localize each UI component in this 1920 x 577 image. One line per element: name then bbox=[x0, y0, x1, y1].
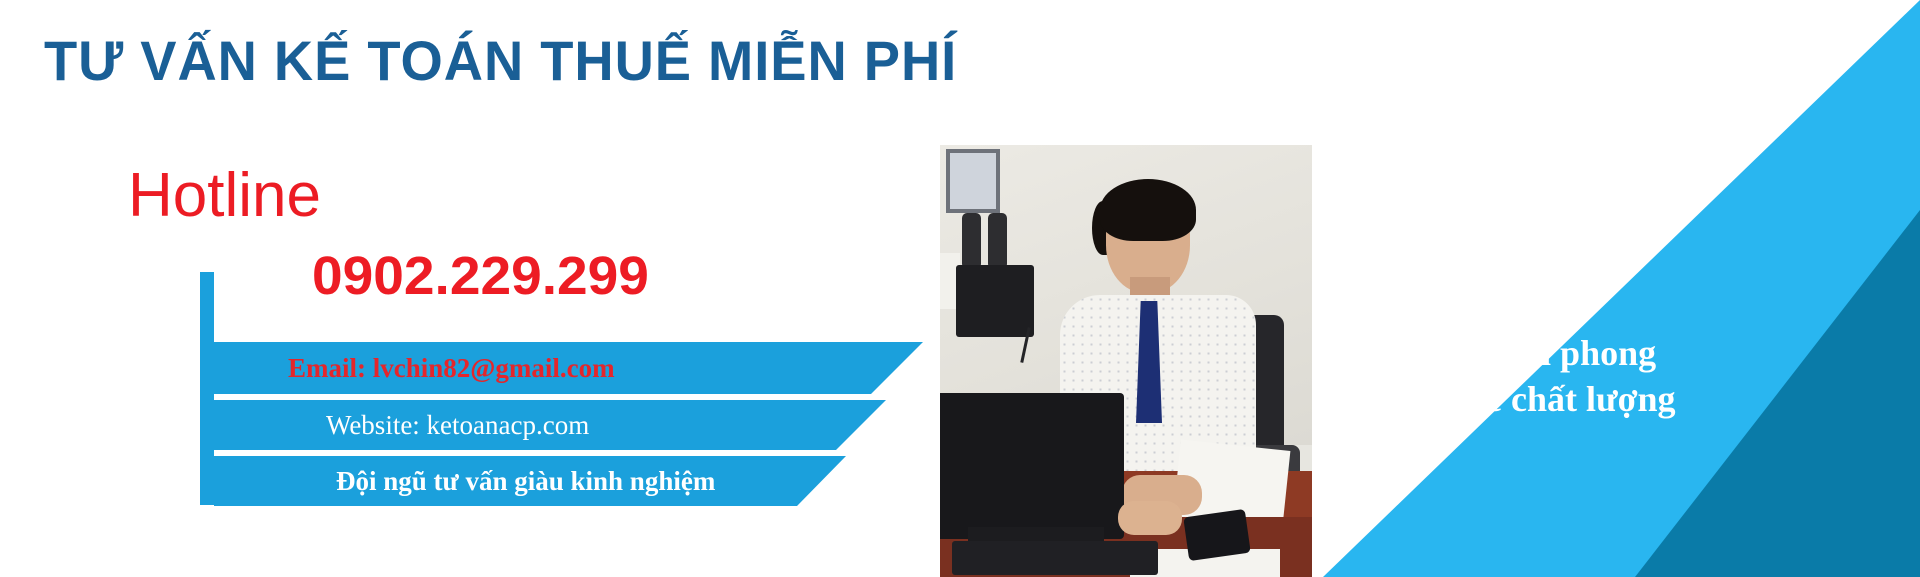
photo-speaker-right bbox=[988, 213, 1007, 269]
photo-mobile-phone bbox=[1183, 509, 1251, 561]
left-accent-bar bbox=[200, 272, 214, 505]
photo-window bbox=[946, 149, 1000, 213]
circled-check-icon bbox=[1378, 287, 1410, 319]
consultant-photo: BenQ bbox=[940, 145, 1312, 577]
benefit-label-4: về chất lượng bbox=[1468, 376, 1676, 423]
page-title: TƯ VẤN KẾ TOÁN THUẾ MIỄN PHÍ bbox=[44, 28, 957, 93]
team-band: Đội ngũ tư vấn giàu kinh nghiệm bbox=[214, 456, 846, 506]
benefit-item-3: Luôn tiên phong bbox=[1360, 330, 1830, 377]
hotline-label: Hotline bbox=[128, 160, 321, 231]
circled-check-icon bbox=[1360, 334, 1392, 366]
benefit-item-3-continued: về chất lượng bbox=[1360, 376, 1830, 423]
hotline-number[interactable]: 0902.229.299 bbox=[312, 245, 649, 307]
banner-root: TƯ VẤN KẾ TOÁN THUẾ MIỄN PHÍ Hotline 090… bbox=[0, 0, 1920, 577]
circled-check-icon bbox=[1422, 240, 1454, 272]
benefit-item-1: Tận tâm bbox=[1360, 236, 1830, 283]
photo-hair bbox=[1100, 179, 1196, 241]
benefit-item-2: Uy tín bbox=[1360, 283, 1830, 330]
benefits-list: Tận tâm Uy tín Luôn tiên phong về chất l… bbox=[1360, 236, 1830, 423]
photo-hand bbox=[1118, 501, 1182, 535]
website-band: Website: ketoanacp.com bbox=[214, 400, 886, 450]
email-text[interactable]: Email: lvchin82@gmail.com bbox=[214, 353, 923, 384]
photo-equipment-box bbox=[956, 265, 1034, 337]
photo-monitor: BenQ bbox=[940, 393, 1124, 539]
photo-keyboard bbox=[952, 541, 1158, 575]
benefit-label-1: Tận tâm bbox=[1464, 236, 1595, 283]
website-text[interactable]: Website: ketoanacp.com bbox=[214, 410, 886, 441]
benefit-label-3: Luôn tiên phong bbox=[1402, 330, 1656, 377]
email-band: Email: lvchin82@gmail.com bbox=[214, 342, 923, 394]
photo-speaker-left bbox=[962, 213, 981, 269]
benefit-label-2: Uy tín bbox=[1420, 283, 1515, 330]
team-text: Đội ngũ tư vấn giàu kinh nghiệm bbox=[214, 466, 846, 497]
